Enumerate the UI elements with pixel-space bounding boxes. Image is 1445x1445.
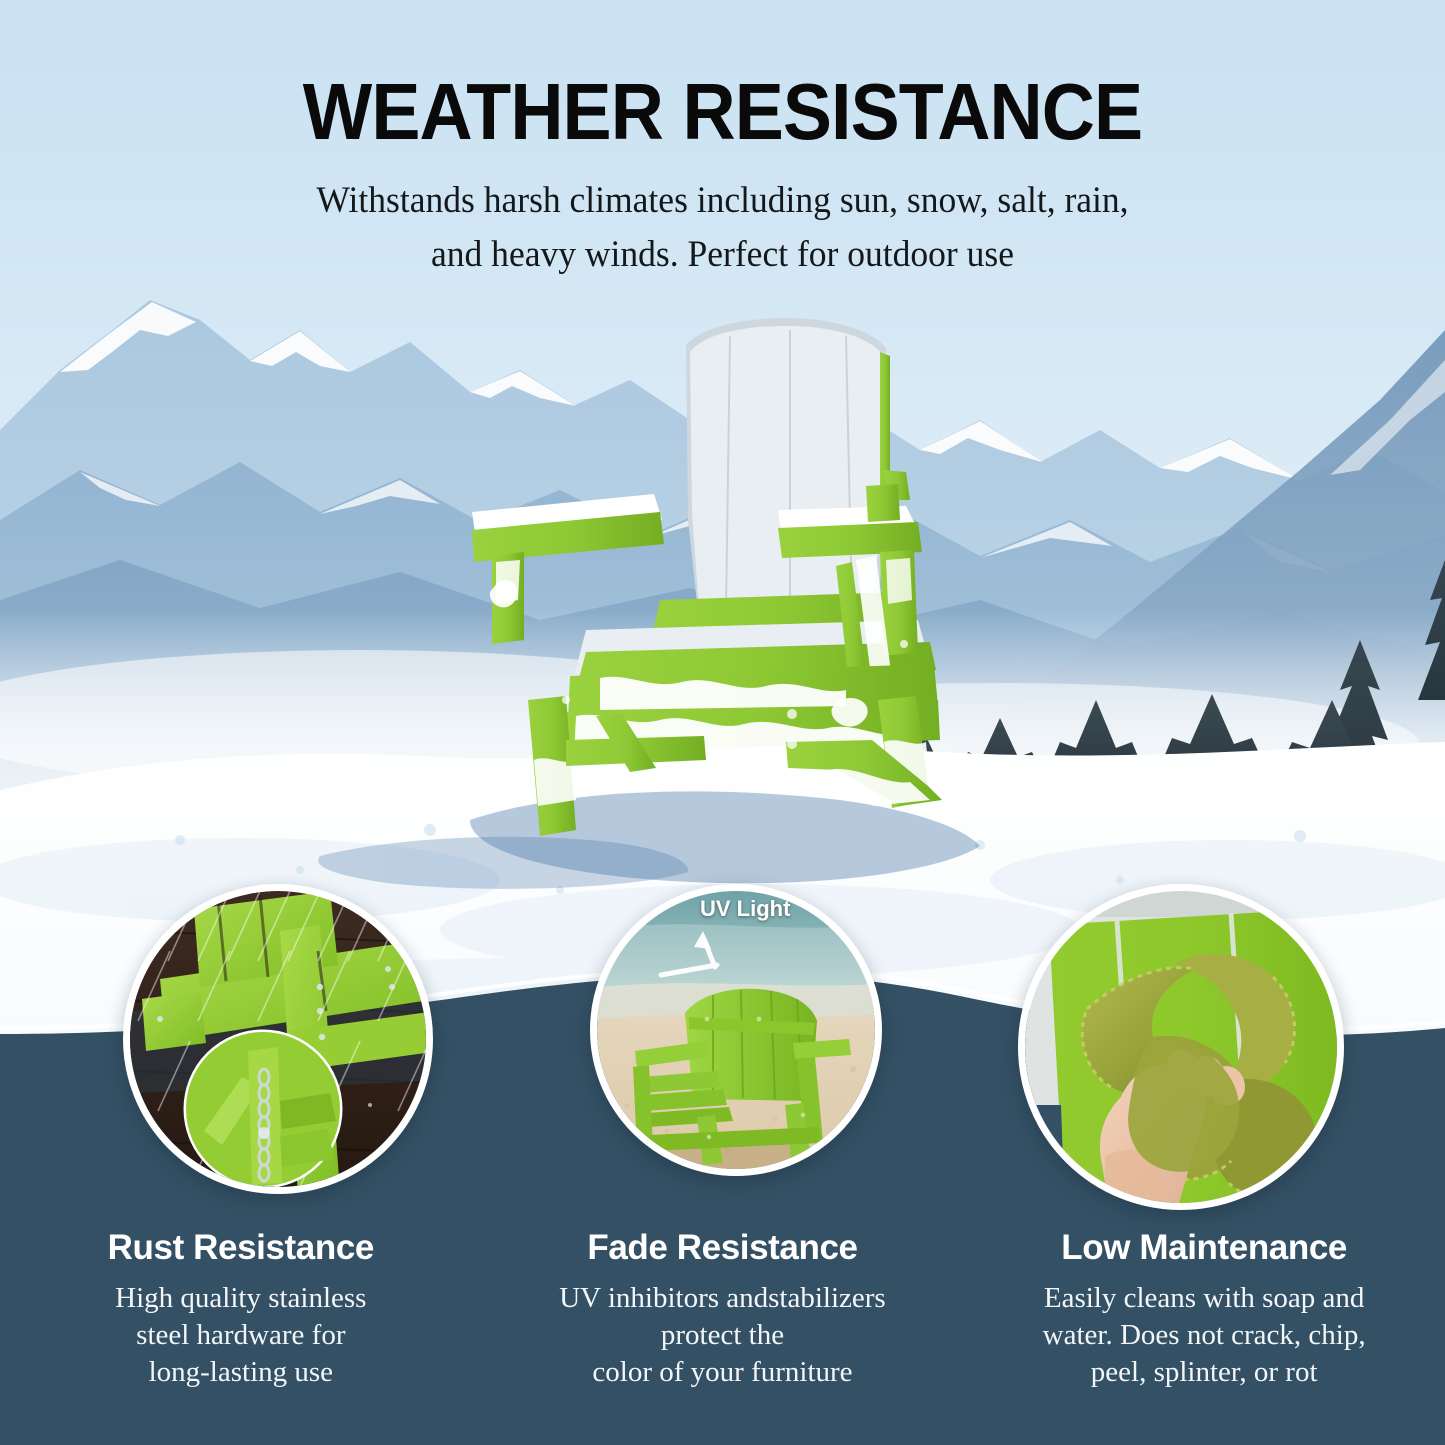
feature-body-clean: Easily cleans with soap and water. Does …	[999, 1280, 1409, 1391]
weather-resistance-infographic: WEATHER RESISTANCE Withstands harsh clim…	[0, 0, 1445, 1445]
feature-image-rust	[123, 884, 433, 1194]
uv-light-label: UV Light	[700, 896, 860, 922]
feature-title-rust: Rust Resistance	[70, 1228, 412, 1268]
feature-body-rust-line-2: steel hardware for	[136, 1319, 345, 1351]
feature-title-clean: Low Maintenance	[999, 1228, 1409, 1268]
feature-card-fade: Fade Resistance UV inhibitors andstabili…	[482, 1228, 964, 1391]
feature-body-clean-line-1: Easily cleans with soap and	[1044, 1282, 1365, 1314]
feature-body-rust: High quality stainless steel hardware fo…	[70, 1280, 412, 1391]
feature-title-fade: Fade Resistance	[516, 1228, 930, 1268]
feature-body-rust-line-1: High quality stainless	[115, 1282, 366, 1314]
page-subtitle: Withstands harsh climates including sun,…	[29, 174, 1416, 281]
feature-body-fade-line-1: UV inhibitors andstabilizers	[559, 1282, 885, 1314]
uv-light-annotation: UV Light	[700, 896, 860, 922]
feature-body-fade-line-2: protect the	[661, 1319, 784, 1351]
feature-card-clean: Low Maintenance Easily cleans with soap …	[963, 1228, 1445, 1391]
feature-body-fade-line-3: color of your furniture	[592, 1356, 852, 1388]
feature-image-clean	[1018, 884, 1344, 1210]
feature-image-fade	[590, 884, 882, 1176]
subtitle-line-1: Withstands harsh climates including sun,…	[29, 174, 1416, 228]
feature-body-clean-line-3: peel, splinter, or rot	[1091, 1356, 1318, 1388]
feature-body-rust-line-3: long-lasting use	[149, 1356, 333, 1388]
feature-card-rust: Rust Resistance High quality stainless s…	[0, 1228, 482, 1391]
feature-body-clean-line-2: water. Does not crack, chip,	[1043, 1319, 1366, 1351]
feature-caption-row: Rust Resistance High quality stainless s…	[0, 1228, 1445, 1391]
header-block: WEATHER RESISTANCE Withstands harsh clim…	[0, 0, 1445, 281]
page-title: WEATHER RESISTANCE	[58, 72, 1387, 152]
feature-body-fade: UV inhibitors andstabilizers protect the…	[516, 1280, 930, 1391]
subtitle-line-2: and heavy winds. Perfect for outdoor use	[29, 228, 1416, 282]
